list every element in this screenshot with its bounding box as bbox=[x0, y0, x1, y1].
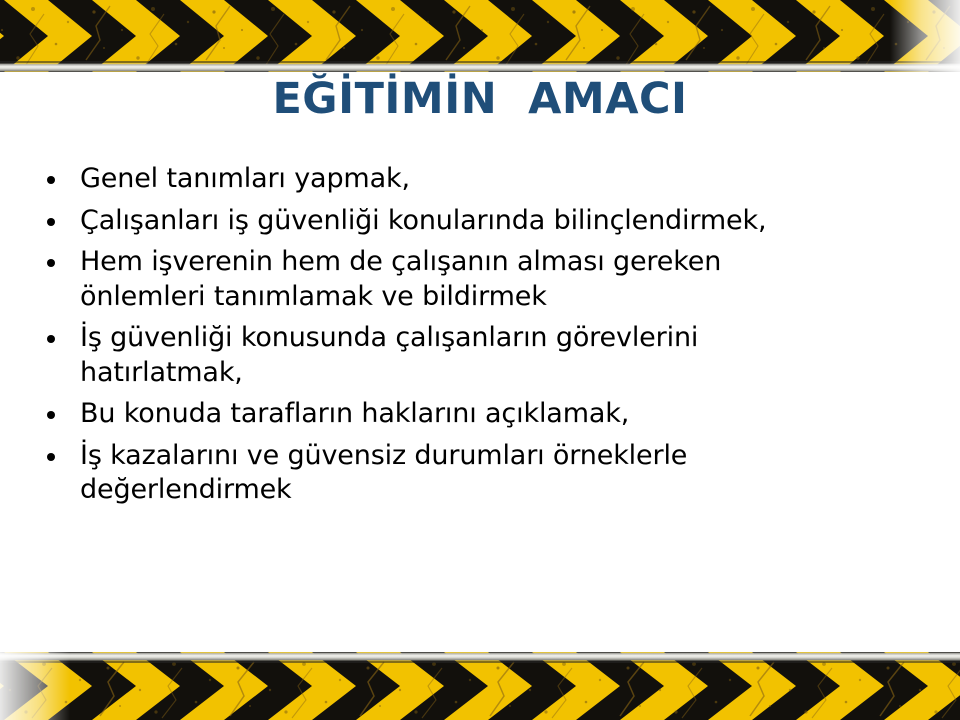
banner-metal-strip-top bbox=[0, 63, 960, 72]
bullet-list: Genel tanımları yapmak, Çalışanları iş g… bbox=[36, 162, 926, 515]
bullet-dot-icon bbox=[47, 335, 55, 343]
banner-edge-rule-bottom bbox=[0, 661, 960, 663]
list-item-label: İş kazalarını ve güvensiz durumları örne… bbox=[80, 439, 926, 508]
list-item: İş kazalarını ve güvensiz durumları örne… bbox=[36, 439, 926, 508]
list-item: Bu konuda tarafların haklarını açıklamak… bbox=[36, 397, 926, 432]
bullet-dot-icon bbox=[47, 176, 55, 184]
list-item: İş güvenliği konusunda çalışanların göre… bbox=[36, 321, 926, 390]
slide-title: EĞİTİMİN AMACI bbox=[0, 77, 960, 122]
hazard-chevron-banner-bottom bbox=[0, 652, 960, 720]
list-item: Hem işverenin hem de çalışanın alması ge… bbox=[36, 245, 926, 314]
list-item-label: İş güvenliği konusunda çalışanların göre… bbox=[80, 321, 926, 390]
list-item: Çalışanları iş güvenliği konularında bil… bbox=[36, 204, 926, 239]
list-item: Genel tanımları yapmak, bbox=[36, 162, 926, 197]
bullet-dot-icon bbox=[47, 411, 55, 419]
bullet-dot-icon bbox=[47, 218, 55, 226]
hazard-chevron-banner-top bbox=[0, 0, 960, 72]
list-item-label: Çalışanları iş güvenliği konularında bil… bbox=[80, 204, 926, 239]
bullet-dot-icon bbox=[47, 259, 55, 267]
slide-canvas: EĞİTİMİN AMACI Genel tanımları yapmak, Ç… bbox=[0, 0, 960, 720]
list-item-label: Bu konuda tarafların haklarını açıklamak… bbox=[80, 397, 926, 432]
bullet-dot-icon bbox=[47, 453, 55, 461]
banner-metal-strip-bottom bbox=[0, 652, 960, 661]
list-item-label: Hem işverenin hem de çalışanın alması ge… bbox=[80, 245, 926, 314]
list-item-label: Genel tanımları yapmak, bbox=[80, 162, 926, 197]
